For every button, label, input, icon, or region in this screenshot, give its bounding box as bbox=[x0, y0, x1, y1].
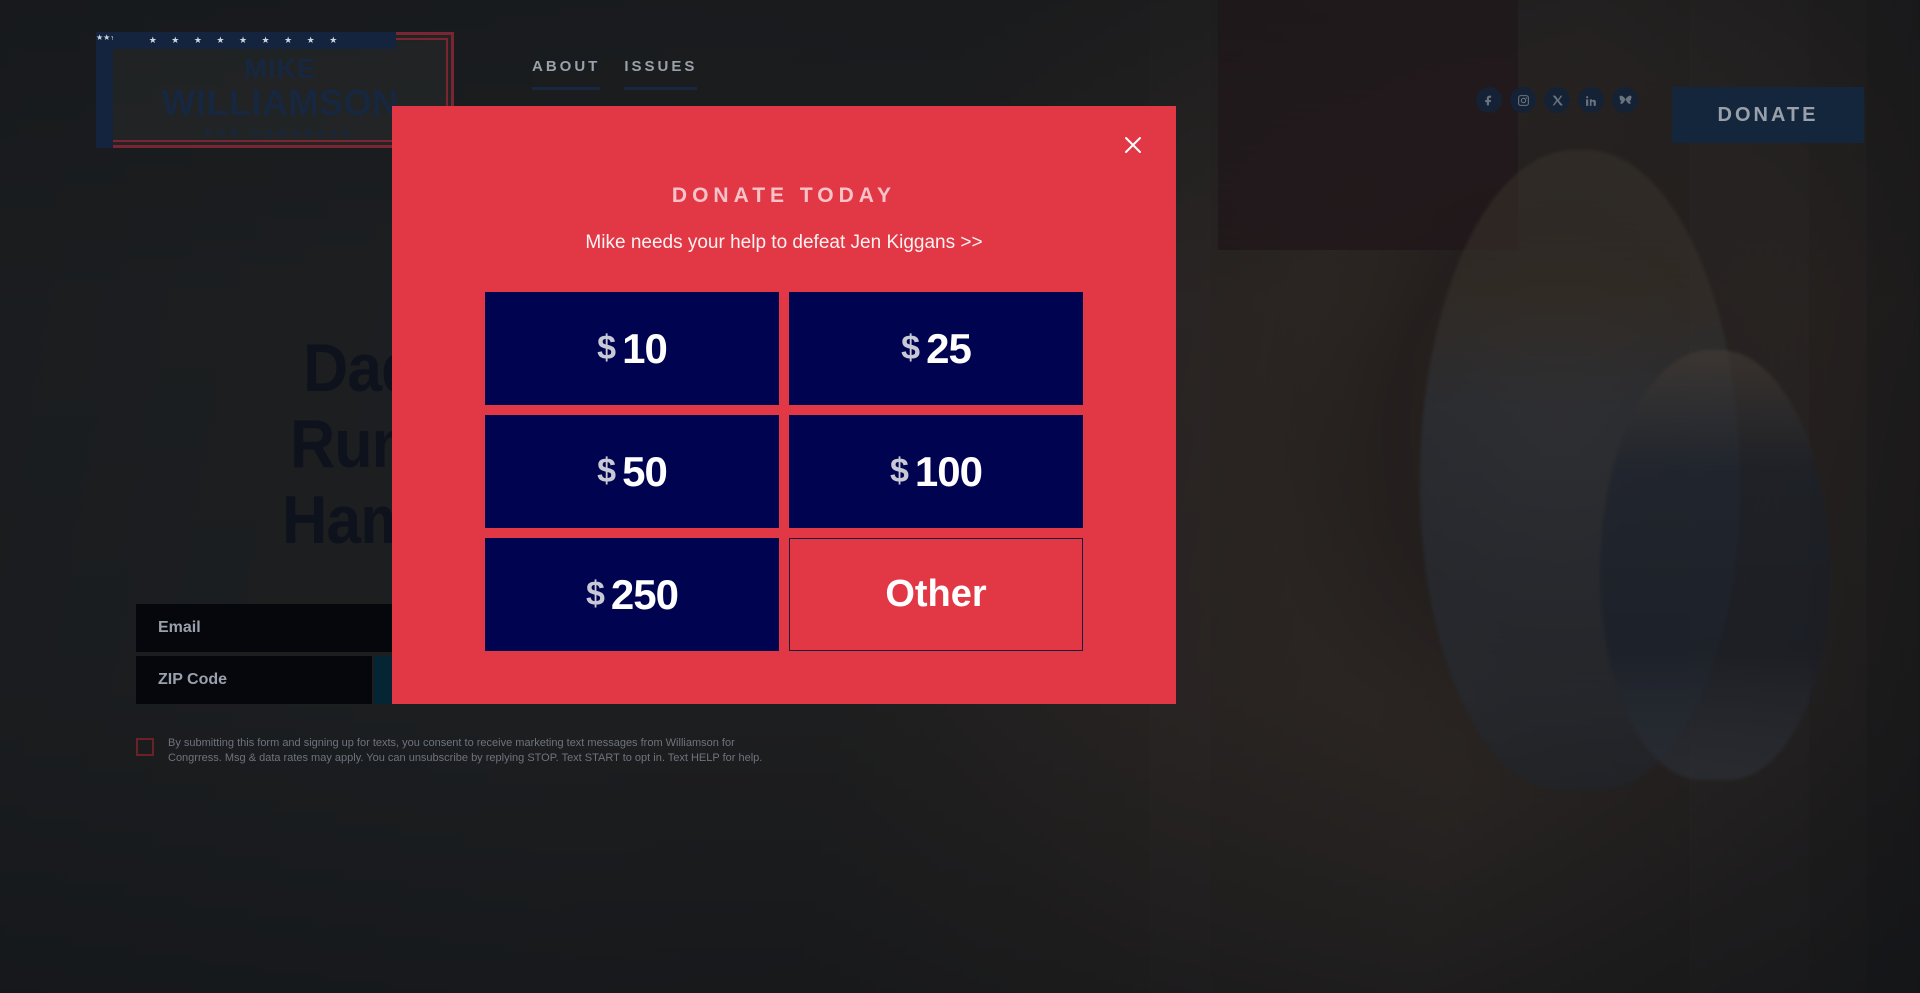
amount-value: 25 bbox=[926, 325, 971, 373]
amount-value: 10 bbox=[622, 325, 667, 373]
amount-value: 250 bbox=[611, 571, 678, 619]
currency-symbol: $ bbox=[890, 452, 909, 491]
logo-first-name: MIKE bbox=[120, 54, 440, 84]
consent-disclaimer-text: By submitting this form and signing up f… bbox=[168, 736, 776, 766]
modal-title: DONATE TODAY bbox=[392, 184, 1176, 208]
donate-amount-25[interactable]: $ 25 bbox=[789, 292, 1083, 405]
main-navigation: ABOUT ISSUES bbox=[532, 58, 697, 90]
nav-link-about[interactable]: ABOUT bbox=[532, 58, 600, 90]
zip-code-field[interactable] bbox=[136, 656, 372, 704]
amount-value: 50 bbox=[622, 448, 667, 496]
consent-row: By submitting this form and signing up f… bbox=[136, 736, 776, 766]
currency-symbol: $ bbox=[586, 575, 605, 614]
facebook-icon[interactable] bbox=[1476, 87, 1502, 113]
donation-amount-grid: $ 10 $ 25 $ 50 $ 100 $ 250 Other bbox=[485, 292, 1083, 651]
donate-amount-50[interactable]: $ 50 bbox=[485, 415, 779, 528]
modal-subtitle: Mike needs your help to defeat Jen Kigga… bbox=[392, 232, 1176, 254]
currency-symbol: $ bbox=[597, 452, 616, 491]
page-root: ★ ★ ★ ★ ★ ★ ★ ★ ★ ★★★★★★★★★ MIKE WILLIAM… bbox=[0, 0, 1920, 993]
amount-value: Other bbox=[885, 573, 986, 616]
donate-amount-other[interactable]: Other bbox=[789, 538, 1083, 651]
instagram-icon[interactable] bbox=[1510, 87, 1536, 113]
donate-amount-100[interactable]: $ 100 bbox=[789, 415, 1083, 528]
currency-symbol: $ bbox=[901, 329, 920, 368]
donate-amount-250[interactable]: $ 250 bbox=[485, 538, 779, 651]
social-links bbox=[1476, 87, 1638, 113]
logo-stars-vertical: ★★★★★★★★★ bbox=[96, 32, 113, 148]
consent-checkbox[interactable] bbox=[136, 738, 154, 756]
currency-symbol: $ bbox=[597, 329, 616, 368]
linkedin-icon[interactable] bbox=[1578, 87, 1604, 113]
logo-stars-horizontal: ★ ★ ★ ★ ★ ★ ★ ★ ★ bbox=[96, 32, 396, 49]
donate-amount-10[interactable]: $ 10 bbox=[485, 292, 779, 405]
donate-modal: DONATE TODAY Mike needs your help to def… bbox=[392, 106, 1176, 704]
header-right-group: DONATE bbox=[1476, 87, 1864, 143]
header-donate-button[interactable]: DONATE bbox=[1672, 87, 1864, 143]
amount-value: 100 bbox=[915, 448, 982, 496]
x-twitter-icon[interactable] bbox=[1544, 87, 1570, 113]
close-icon[interactable] bbox=[1116, 128, 1150, 162]
bluesky-icon[interactable] bbox=[1612, 87, 1638, 113]
nav-link-issues[interactable]: ISSUES bbox=[624, 58, 697, 90]
